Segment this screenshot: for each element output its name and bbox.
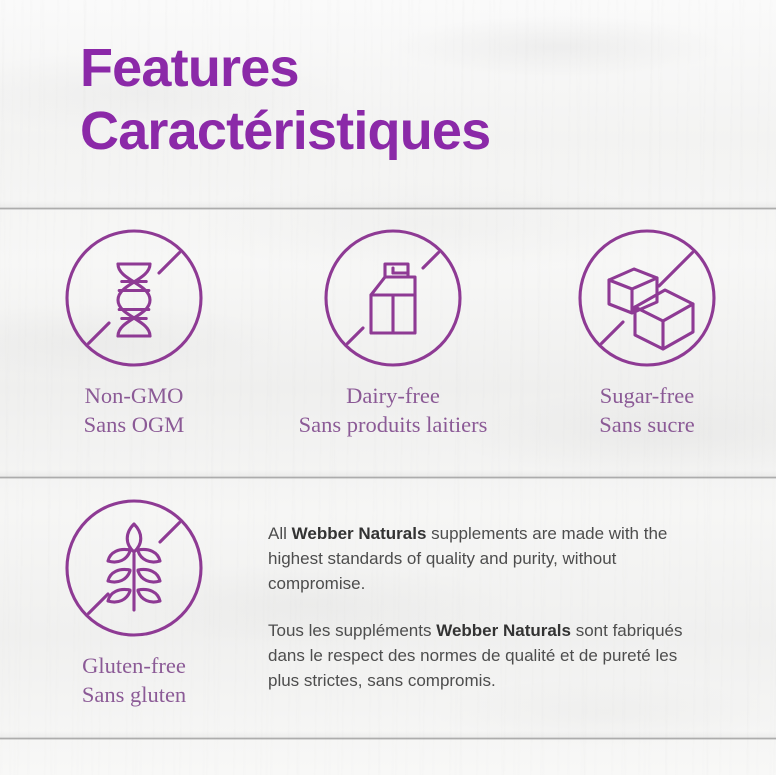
feature-sugar-free: Sugar-free Sans sucre	[518, 228, 776, 440]
label-fr: Sans gluten	[82, 680, 186, 709]
description-english: All Webber Naturals supplements are made…	[268, 522, 708, 597]
features-row-top: Non-GMO Sans OGM	[0, 228, 776, 440]
label-en: Gluten-free	[82, 653, 186, 678]
desc-en-before: All	[268, 524, 292, 543]
description-block: All Webber Naturals supplements are made…	[268, 498, 708, 694]
label-en: Non-GMO	[85, 383, 184, 408]
feature-caption-dairy-free: Dairy-free Sans produits laitiers	[299, 381, 488, 440]
feature-caption-non-gmo: Non-GMO Sans OGM	[84, 381, 185, 440]
title-english: Features	[80, 42, 720, 95]
brand-name-fr: Webber Naturals	[436, 621, 571, 640]
label-en: Dairy-free	[346, 383, 440, 408]
feature-caption-sugar-free: Sugar-free Sans sucre	[599, 381, 695, 440]
description-french: Tous les suppléments Webber Naturals son…	[268, 619, 708, 694]
no-gmo-dna-icon	[64, 228, 204, 368]
page-title: Features Caractéristiques	[80, 42, 720, 158]
no-dairy-milk-carton-icon	[323, 228, 463, 368]
plank-seam-3	[0, 737, 776, 740]
desc-fr-before: Tous les suppléments	[268, 621, 436, 640]
label-fr: Sans OGM	[84, 410, 185, 439]
feature-non-gmo: Non-GMO Sans OGM	[0, 228, 268, 440]
no-sugar-cubes-icon	[577, 228, 717, 368]
title-french: Caractéristiques	[80, 105, 720, 158]
feature-caption-gluten-free: Gluten-free Sans gluten	[82, 651, 186, 710]
label-fr: Sans sucre	[599, 410, 695, 439]
features-panel: Features Caractéristiques	[0, 0, 776, 775]
label-en: Sugar-free	[600, 383, 695, 408]
feature-gluten-free: Gluten-free Sans gluten	[0, 498, 268, 710]
brand-name-en: Webber Naturals	[292, 524, 427, 543]
feature-dairy-free: Dairy-free Sans produits laitiers	[268, 228, 518, 440]
label-fr: Sans produits laitiers	[299, 410, 488, 439]
plank-seam-1	[0, 207, 776, 210]
plank-seam-2	[0, 476, 776, 479]
no-gluten-wheat-icon	[64, 498, 204, 638]
features-row-bottom: Gluten-free Sans gluten All Webber Natur…	[0, 498, 776, 710]
